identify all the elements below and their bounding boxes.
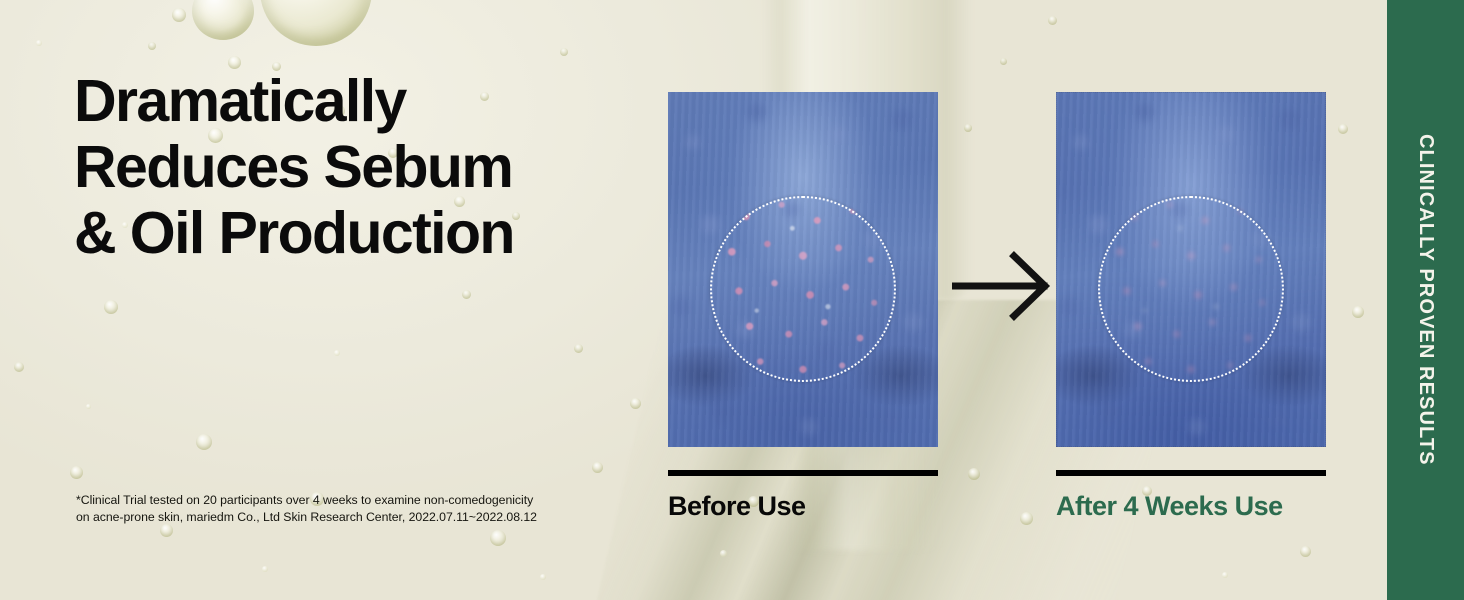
after-caption-block: After 4 Weeks Use (1056, 470, 1326, 522)
caption-rule (668, 470, 938, 476)
oil-droplet-small (1020, 512, 1033, 525)
oil-droplet-tiny (720, 550, 727, 557)
oil-droplet-small (1352, 306, 1364, 318)
headline: Dramatically Reduces Sebum & Oil Product… (74, 68, 674, 266)
before-photo (668, 92, 938, 447)
oil-droplet-small (14, 362, 24, 372)
oil-droplet-small (1000, 58, 1007, 65)
disclaimer-line-1: *Clinical Trial tested on 20 participant… (76, 492, 616, 509)
arrow-right-icon (952, 250, 1052, 322)
caption-rule (1056, 470, 1326, 476)
oil-droplet-tiny (540, 574, 546, 580)
measurement-circle-marker (1098, 196, 1284, 382)
disclaimer-line-2: on acne-prone skin, mariedm Co., Ltd Ski… (76, 509, 616, 526)
oil-droplet-tiny (334, 350, 340, 356)
oil-droplet-tiny (86, 404, 91, 409)
oil-droplet-small (630, 398, 641, 409)
oil-droplet-small (1300, 546, 1311, 557)
oil-droplet-small (560, 48, 568, 56)
oil-droplet-tiny (262, 566, 268, 572)
oil-droplet-small (490, 530, 506, 546)
oil-droplet-small (104, 300, 118, 314)
oil-droplet-small (1338, 124, 1348, 134)
oil-droplet-small (1048, 16, 1057, 25)
before-caption-block: Before Use (668, 470, 938, 522)
oil-droplet-small (148, 42, 156, 50)
headline-line-1: Dramatically (74, 68, 674, 134)
oil-droplet-small (462, 290, 471, 299)
oil-droplet-small (574, 344, 583, 353)
clinical-results-banner: Dramatically Reduces Sebum & Oil Product… (0, 0, 1464, 600)
after-caption-label: After 4 Weeks Use (1056, 491, 1326, 522)
before-caption-label: Before Use (668, 491, 938, 522)
headline-line-2: Reduces Sebum (74, 134, 674, 200)
oil-droplet-tiny (1222, 572, 1228, 578)
measurement-circle-marker (710, 196, 896, 382)
oil-droplet-small (172, 8, 186, 22)
clinical-trial-disclaimer: *Clinical Trial tested on 20 participant… (76, 492, 616, 527)
oil-droplet-small (968, 468, 980, 480)
clinically-proven-results-panel: CLINICALLY PROVEN RESULTS (1387, 0, 1464, 600)
headline-line-3: & Oil Production (74, 200, 674, 266)
side-panel-label: CLINICALLY PROVEN RESULTS (1414, 134, 1437, 466)
oil-droplet-tiny (36, 40, 42, 46)
oil-droplet-small (196, 434, 212, 450)
after-photo (1056, 92, 1326, 447)
oil-droplet-small (964, 124, 972, 132)
oil-droplet-small (70, 466, 83, 479)
oil-droplet-small (592, 462, 603, 473)
